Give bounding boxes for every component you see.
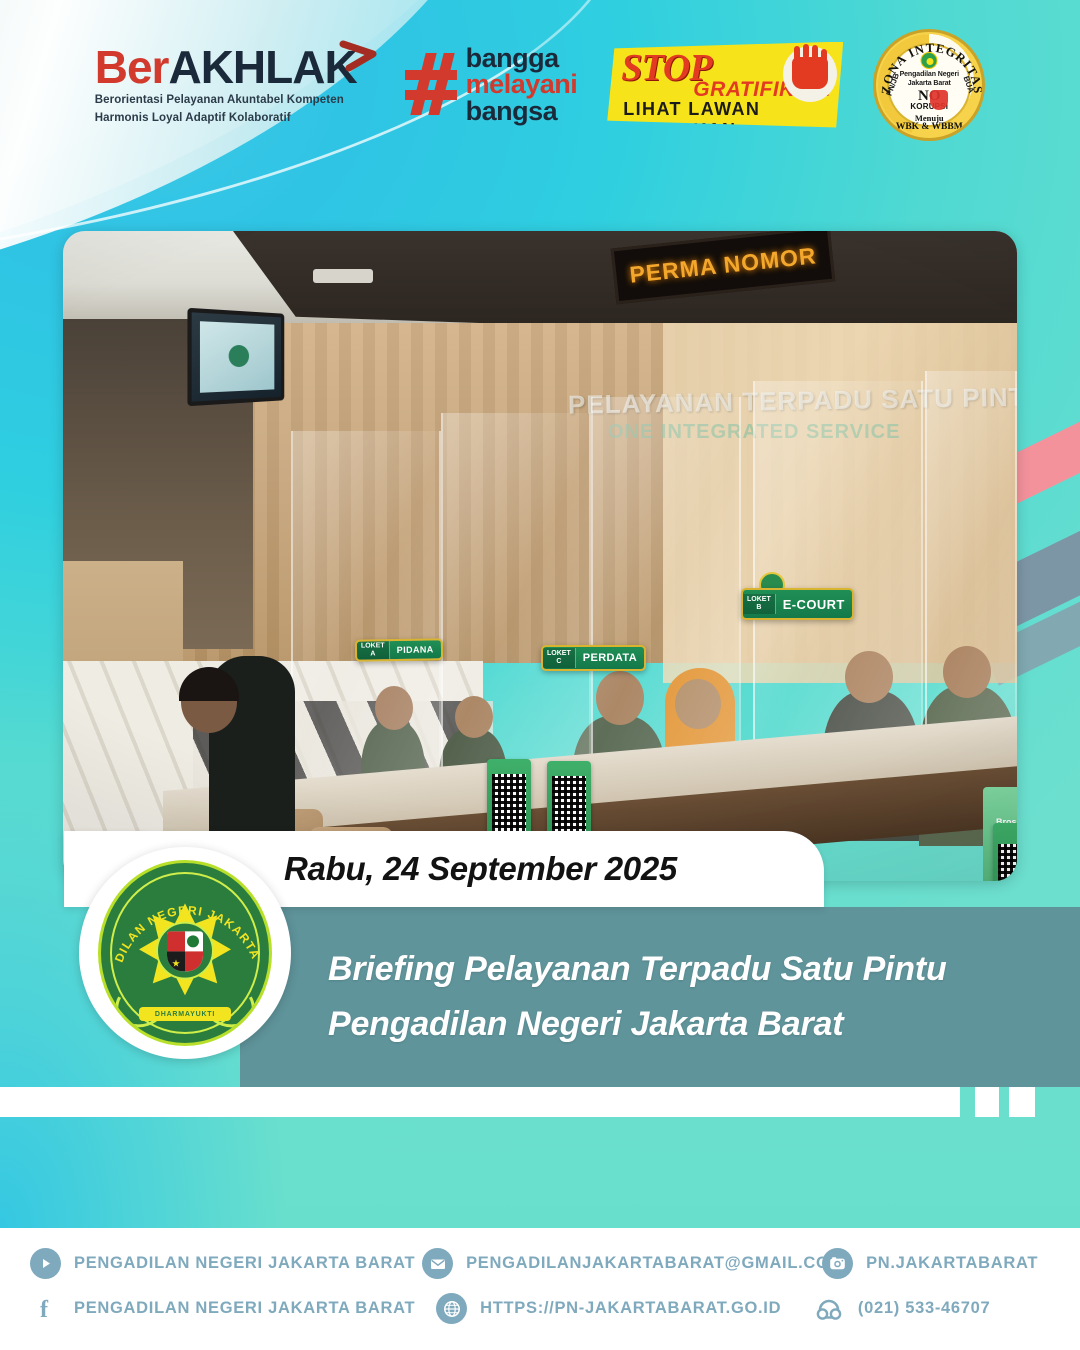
poster-canvas: BerAKHLAK Berorientasi Pelayanan Akuntab… [0,0,1080,1228]
berakhlak-ber-text: Ber [95,41,169,93]
footer-youtube[interactable]: PENGADILAN NEGERI JAKARTA BARAT [30,1248,422,1279]
header-logo-row: BerAKHLAK Berorientasi Pelayanan Akuntab… [0,22,1080,147]
berakhlak-wordmark: BerAKHLAK [95,44,357,90]
title-underbar [0,1087,960,1117]
event-date: Rabu, 24 September 2025 [284,850,677,888]
footer-phone[interactable]: (021) 533-46707 [814,1293,1050,1324]
bangga-melayani-bangsa-logo: bangga melayani bangsa [405,45,578,124]
event-title-line-1: Briefing Pelayanan Terpadu Satu Pintu [328,950,1080,989]
telephone-icon [814,1293,845,1324]
berakhlak-swoosh-icon [339,40,379,74]
footer-instagram-label: PN.JAKARTABARAT [866,1254,1038,1273]
seal-red-hand-icon [930,90,948,110]
footer-facebook-label: PENGADILAN NEGERI JAKARTA BARAT [74,1299,415,1318]
stop-gratifikasi-banner: STOP GRATIFIKASI LIHAT LAWAN LAPORKAN [607,42,843,128]
berakhlak-tagline-line1: Berorientasi Pelayanan Akuntabel Kompete… [95,93,357,107]
seal-korupsi-text: KORUPSI [876,102,982,111]
email-icon [422,1248,453,1279]
photo-vignette [63,231,1017,881]
berakhlak-akhlak-text: AKHLAK [168,41,356,93]
court-logo-emblem: PENGADILAN NEGERI JAKARTA BARAT DHARMAYU… [98,860,272,1046]
zona-integritas-seal: ZONA INTEGRITAS Pengadilan Negeri Jakart… [873,29,985,141]
footer-youtube-label: PENGADILAN NEGERI JAKARTA BARAT [74,1254,415,1273]
berakhlak-logo: BerAKHLAK Berorientasi Pelayanan Akuntab… [95,44,375,125]
footer-instagram[interactable]: PN.JAKARTABARAT [822,1248,1050,1279]
seal-court-emblem-icon [921,52,938,69]
footer-website[interactable]: HTTPS://PN-JAKARTABARAT.GO.ID [436,1293,814,1324]
facebook-icon: f [30,1293,61,1324]
court-logo-badge: PENGADILAN NEGERI JAKARTA BARAT DHARMAYU… [79,847,291,1059]
court-logo-banner-text: DHARMAYUKTI [139,1007,231,1021]
svg-text:f: f [40,1297,49,1322]
title-underbar-square-1 [975,1087,999,1117]
footer-facebook[interactable]: f PENGADILAN NEGERI JAKARTA BARAT [30,1293,436,1324]
contact-footer: PENGADILAN NEGERI JAKARTA BARAT PENGADIL… [0,1228,1080,1350]
bangga-line-2: melayani [466,71,578,97]
footer-website-label: HTTPS://PN-JAKARTABARAT.GO.ID [480,1299,781,1318]
footer-email-label: PENGADILANJAKARTABARAT@GMAIL.COM [466,1254,844,1273]
event-title-line-2: Pengadilan Negeri Jakarta Barat [328,1005,1080,1044]
footer-email[interactable]: PENGADILANJAKARTABARAT@GMAIL.COM [422,1248,822,1279]
lihat-lawan-laporkan-text: LIHAT LAWAN LAPORKAN [623,99,843,141]
bangga-line-1: bangga [466,45,578,71]
bangga-line-3: bangsa [466,98,578,124]
court-logo-shield-icon [167,931,203,971]
instagram-icon [822,1248,853,1279]
youtube-icon [30,1248,61,1279]
title-banner: Briefing Pelayanan Terpadu Satu Pintu Pe… [240,907,1080,1087]
title-underbar-square-2 [1009,1087,1035,1117]
footer-row-2: f PENGADILAN NEGERI JAKARTA BARAT HTTPS:… [30,1293,1050,1324]
hashtag-icon [405,53,457,115]
footer-phone-label: (021) 533-46707 [858,1299,991,1318]
berakhlak-tagline-line2: Harmonis Loyal Adaptif Kolaboratif [95,111,357,125]
bangga-wordmark: bangga melayani bangsa [466,45,578,124]
seal-wbk-wbbm-text: WBK & WBBM [876,122,982,132]
red-hand-icon [783,46,837,102]
footer-row-1: PENGADILAN NEGERI JAKARTA BARAT PENGADIL… [30,1248,1050,1279]
event-photo: PERMA NOMOR PELAYANAN TERPADU SATU PINTU… [63,231,1017,881]
globe-icon [436,1293,467,1324]
